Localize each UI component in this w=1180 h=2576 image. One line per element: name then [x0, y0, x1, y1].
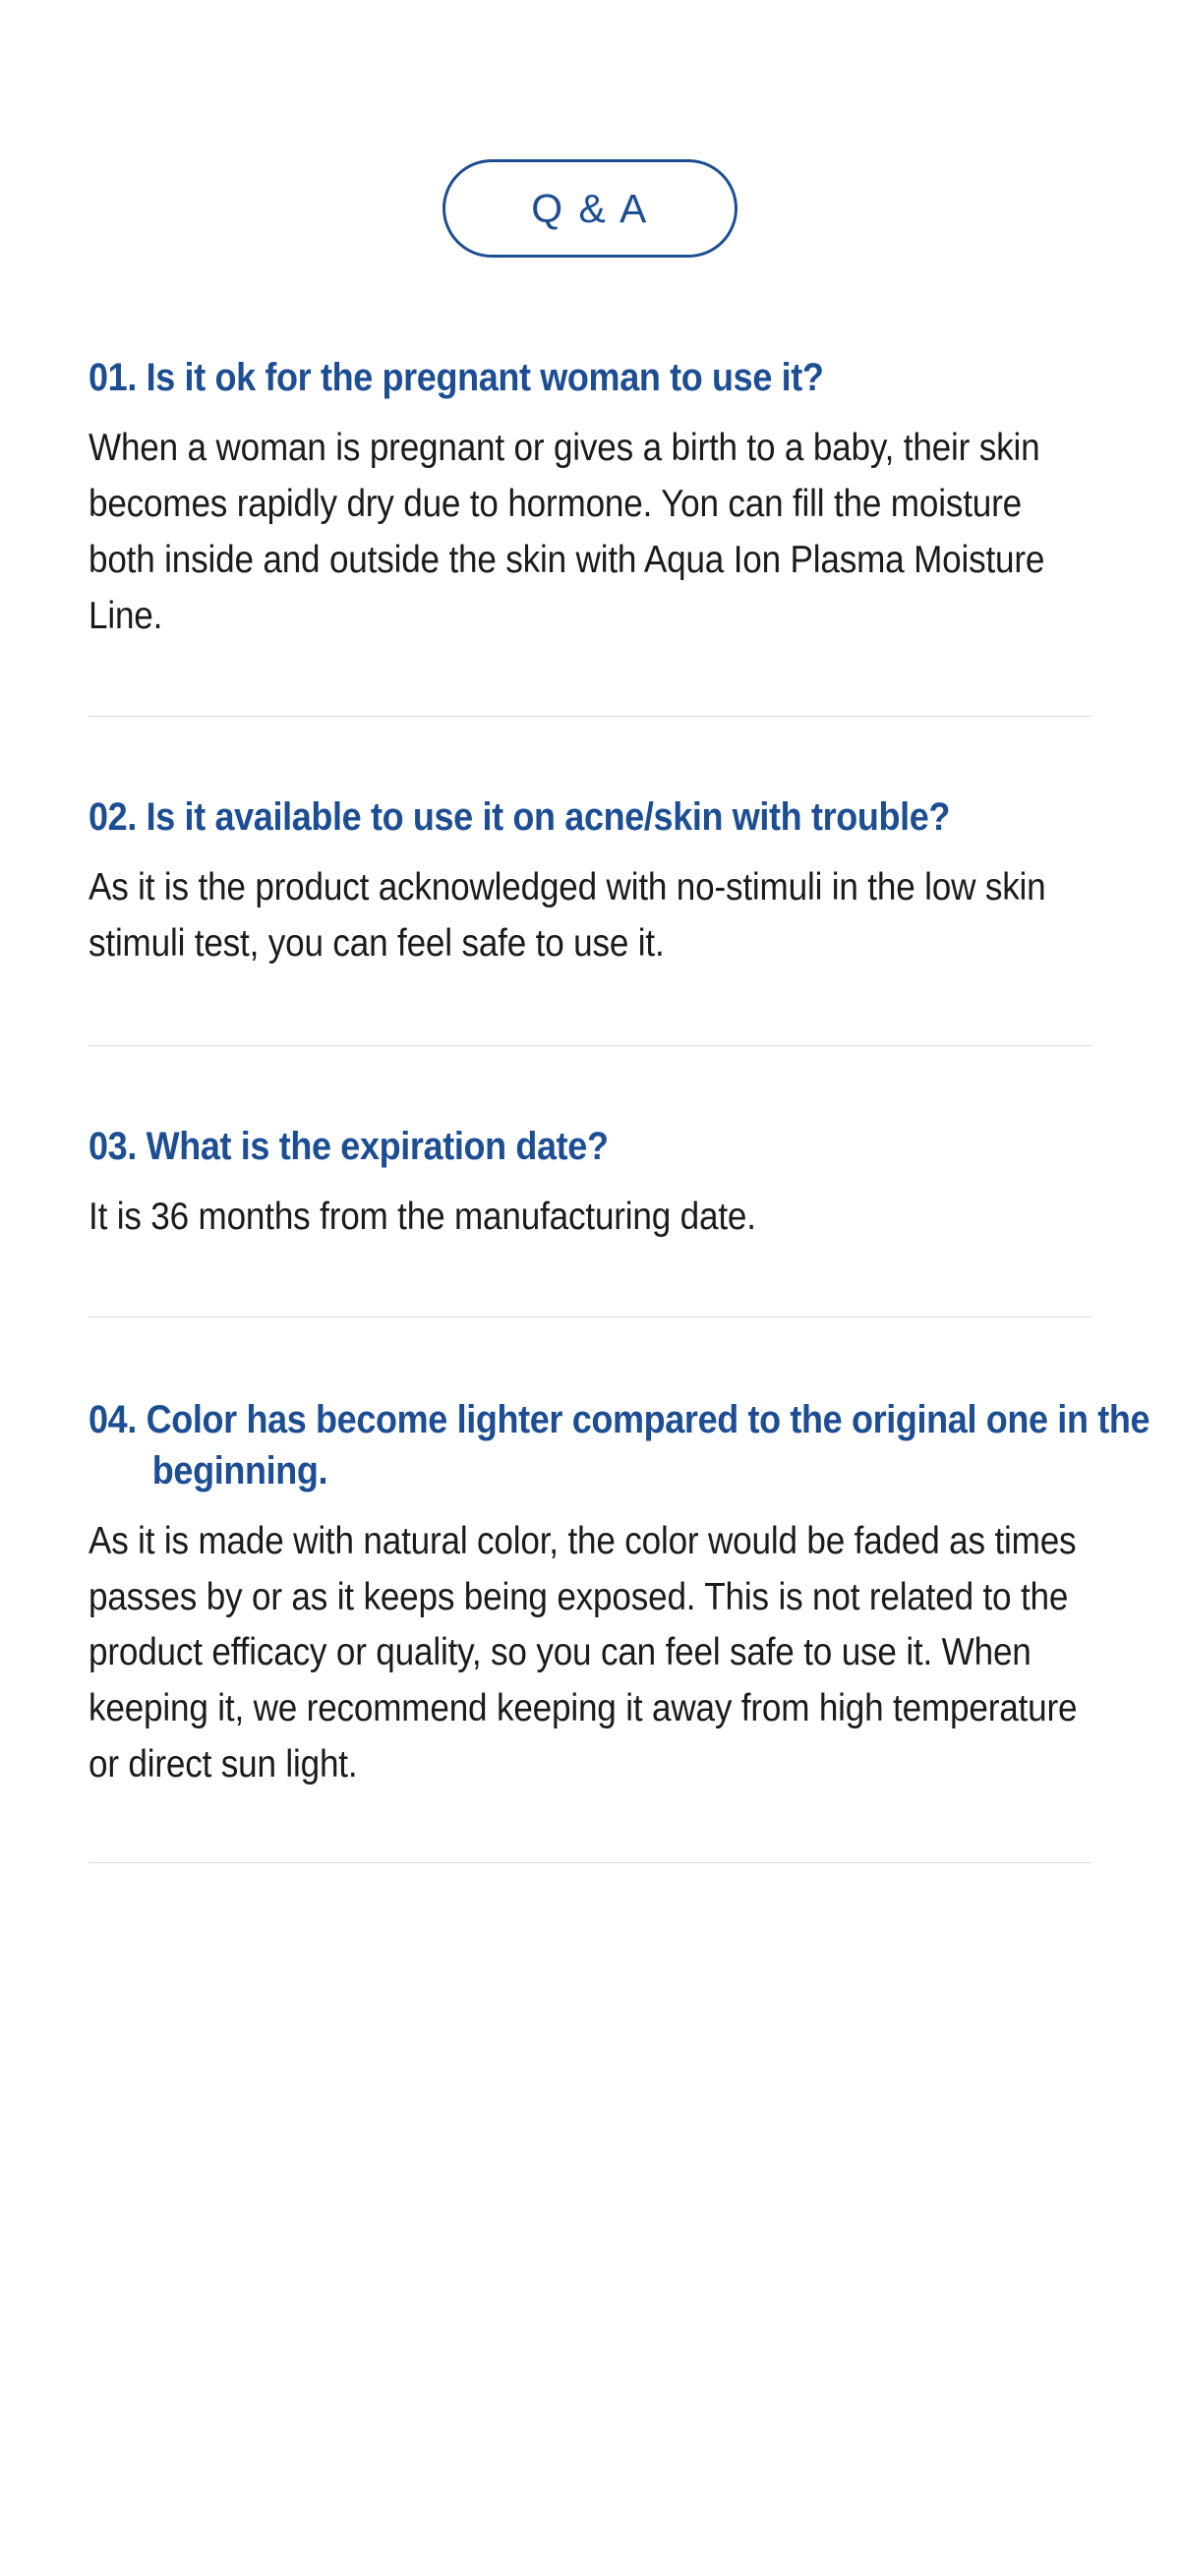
- faq-page: Q & A 01. Is it ok for the pregnant woma…: [0, 0, 1180, 2576]
- badge-row: Q & A: [0, 0, 1180, 258]
- spacer: [88, 717, 1091, 791]
- faq-question-04: 04. Color has become lighter compared to…: [88, 1394, 1154, 1496]
- faq-answer-04: As it is made with natural color, the co…: [88, 1514, 1091, 1794]
- faq-divider-4: [88, 1862, 1091, 1863]
- qa-badge-label: Q & A: [531, 189, 649, 229]
- faq-list: 01. Is it ok for the pregnant woman to u…: [88, 258, 1091, 1863]
- faq-item-02[interactable]: 02. Is it available to use it on acne/sk…: [88, 791, 1091, 972]
- faq-item-03[interactable]: 03. What is the expiration date? It is 3…: [88, 1121, 1091, 1246]
- faq-answer-03: It is 36 months from the manufacturing d…: [88, 1190, 1091, 1246]
- spacer: [88, 1246, 1091, 1317]
- spacer: [88, 1317, 1091, 1394]
- spacer: [88, 1793, 1091, 1862]
- faq-answer-01: When a woman is pregnant or gives a birt…: [88, 421, 1091, 645]
- faq-item-01[interactable]: 01. Is it ok for the pregnant woman to u…: [88, 352, 1091, 645]
- spacer: [88, 972, 1091, 1045]
- faq-question-03: 03. What is the expiration date?: [88, 1121, 1154, 1172]
- spacer: [88, 1046, 1091, 1121]
- faq-answer-02: As it is the product acknowledged with n…: [88, 860, 1091, 972]
- spacer: [88, 645, 1091, 716]
- faq-item-04[interactable]: 04. Color has become lighter compared to…: [88, 1394, 1091, 1794]
- faq-question-01: 01. Is it ok for the pregnant woman to u…: [88, 352, 1154, 403]
- faq-question-02: 02. Is it available to use it on acne/sk…: [88, 791, 1154, 843]
- qa-badge: Q & A: [442, 159, 737, 258]
